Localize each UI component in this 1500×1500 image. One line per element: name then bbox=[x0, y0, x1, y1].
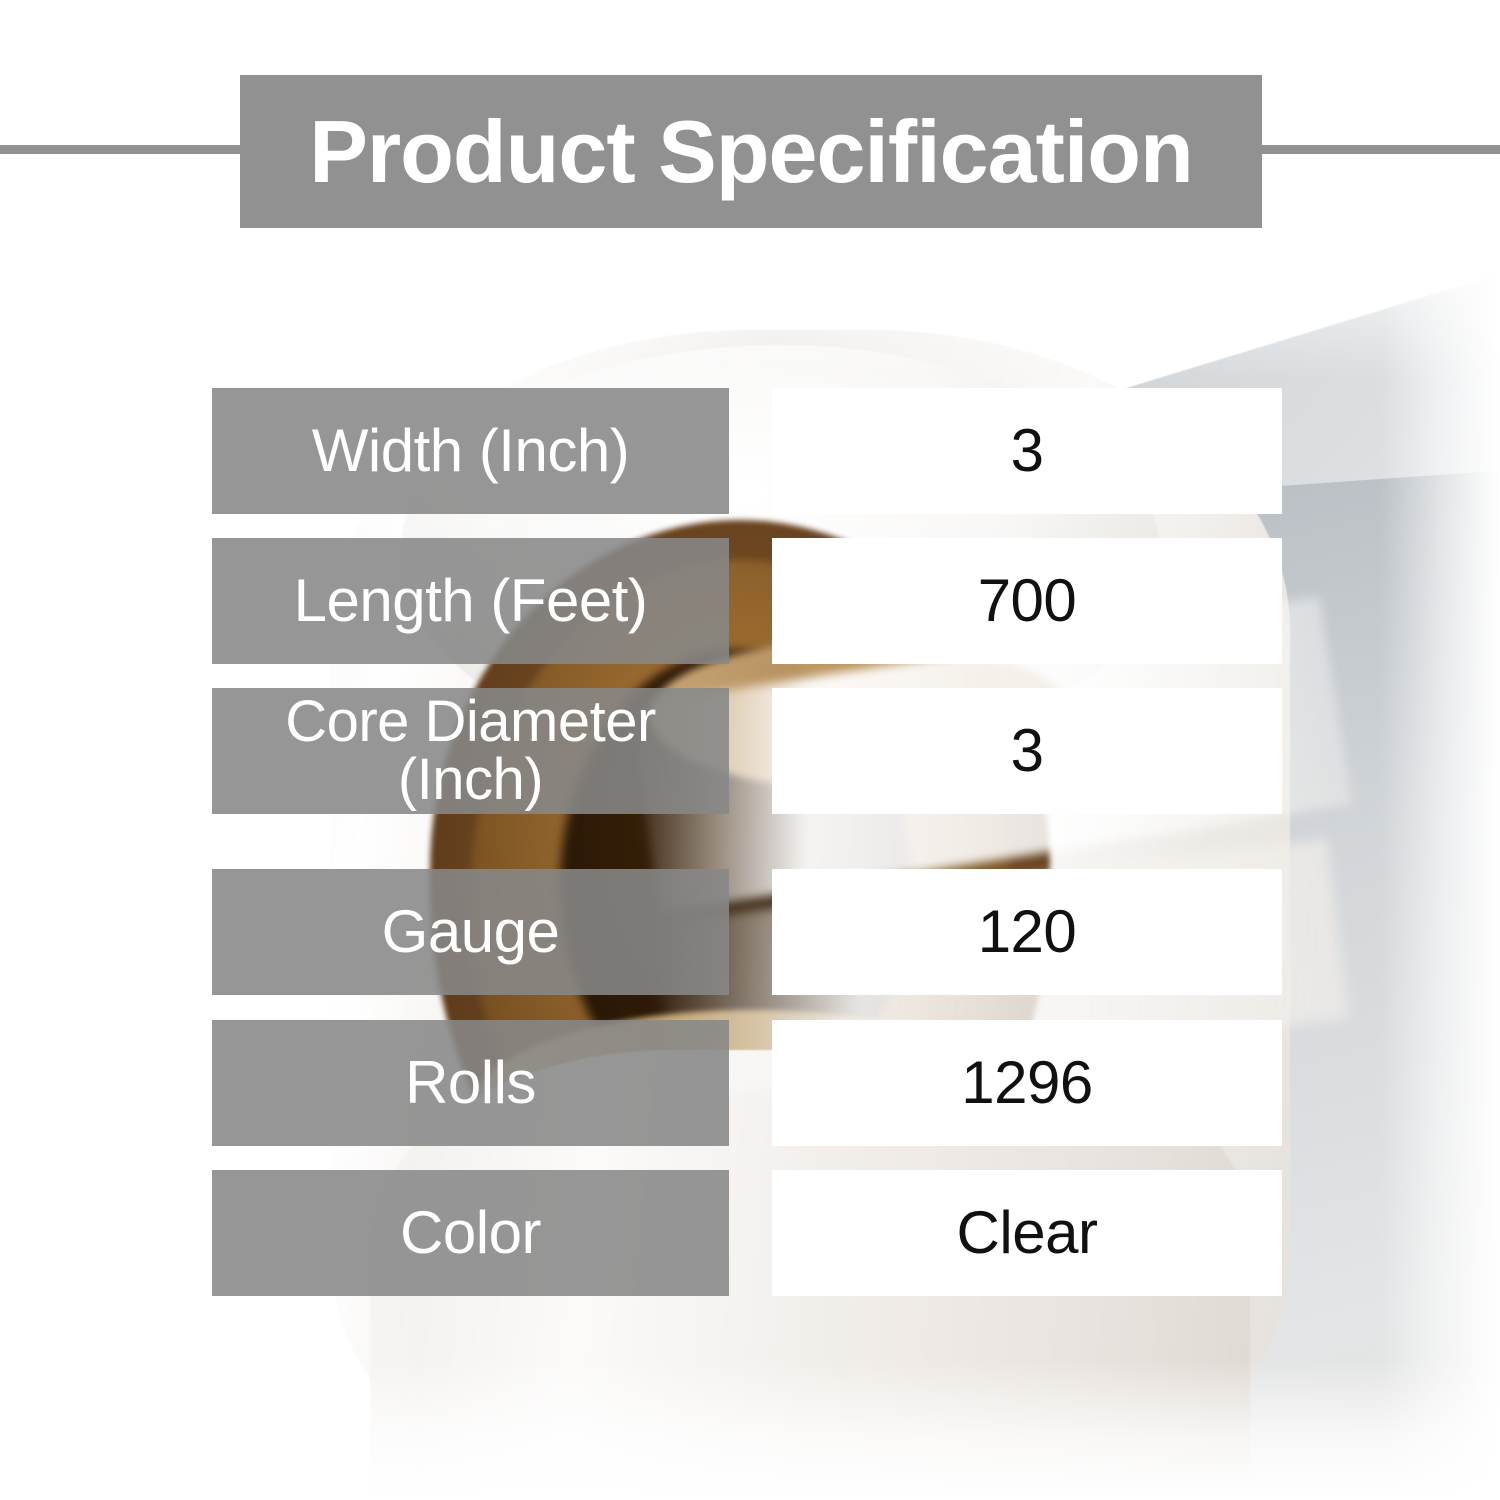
spec-value-width: 3 bbox=[1011, 421, 1044, 481]
spec-label-cell-rolls: Rolls bbox=[212, 1020, 729, 1146]
table-row: Rolls 1296 bbox=[0, 1020, 1500, 1146]
specification-table: Width (Inch) 3 Length (Feet) 700 Core Di… bbox=[0, 0, 1500, 1500]
spec-value-core-diameter: 3 bbox=[1011, 721, 1044, 781]
spec-label-rolls: Rolls bbox=[405, 1052, 536, 1113]
spec-label-length: Length (Feet) bbox=[294, 570, 648, 631]
table-row: Width (Inch) 3 bbox=[0, 388, 1500, 514]
spec-label-color: Color bbox=[400, 1202, 541, 1263]
table-row: Color Clear bbox=[0, 1170, 1500, 1296]
spec-label-cell-core-diameter: Core Diameter (Inch) bbox=[212, 688, 729, 814]
spec-value-cell-color: Clear bbox=[772, 1170, 1282, 1296]
spec-label-core-diameter: Core Diameter (Inch) bbox=[222, 693, 719, 809]
spec-value-cell-gauge: 120 bbox=[772, 869, 1282, 995]
spec-label-cell-color: Color bbox=[212, 1170, 729, 1296]
spec-label-cell-length: Length (Feet) bbox=[212, 538, 729, 664]
spec-label-gauge: Gauge bbox=[382, 901, 560, 962]
table-row: Length (Feet) 700 bbox=[0, 538, 1500, 664]
table-row: Gauge 120 bbox=[0, 869, 1500, 995]
spec-value-cell-length: 700 bbox=[772, 538, 1282, 664]
spec-value-gauge: 120 bbox=[978, 902, 1077, 962]
spec-label-width: Width (Inch) bbox=[312, 420, 629, 481]
spec-value-color: Clear bbox=[957, 1203, 1098, 1263]
spec-value-cell-width: 3 bbox=[772, 388, 1282, 514]
spec-label-cell-gauge: Gauge bbox=[212, 869, 729, 995]
spec-value-length: 700 bbox=[978, 571, 1077, 631]
spec-value-cell-rolls: 1296 bbox=[772, 1020, 1282, 1146]
table-row: Core Diameter (Inch) 3 bbox=[0, 688, 1500, 814]
spec-value-cell-core-diameter: 3 bbox=[772, 688, 1282, 814]
spec-value-rolls: 1296 bbox=[961, 1053, 1092, 1113]
spec-label-cell-width: Width (Inch) bbox=[212, 388, 729, 514]
